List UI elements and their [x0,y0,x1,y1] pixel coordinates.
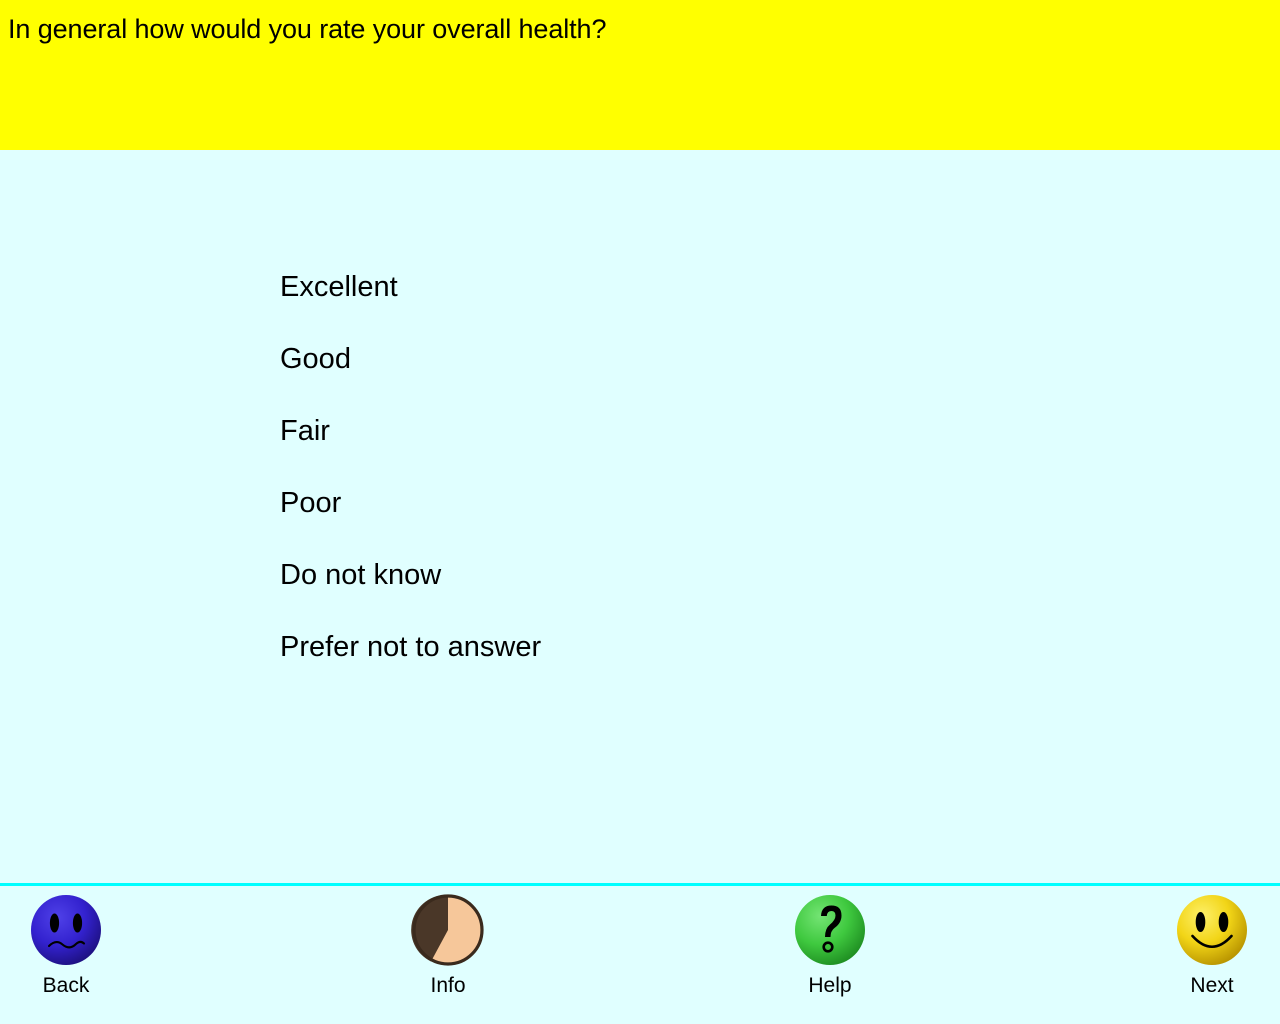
answer-option-poor[interactable]: Poor [280,488,541,560]
answer-options-list: Excellent Good Fair Poor Do not know Pre… [280,272,541,704]
answer-option-excellent[interactable]: Excellent [280,272,541,344]
help-button-label: Help [750,974,910,998]
answer-option-prefer-not-to-answer[interactable]: Prefer not to answer [280,632,541,704]
content-area: Excellent Good Fair Poor Do not know Pre… [0,150,1280,883]
yellow-smiley-face-icon [1174,892,1250,968]
back-button[interactable]: Back [0,892,146,998]
next-button[interactable]: Next [1132,892,1280,998]
question-header: In general how would you rate your overa… [0,0,1280,150]
back-button-label: Back [0,974,146,998]
help-button[interactable]: Help [750,892,910,998]
answer-option-do-not-know[interactable]: Do not know [280,560,541,632]
answer-option-fair[interactable]: Fair [280,416,541,488]
page-title: In general how would you rate your overa… [8,12,606,46]
footer-navigation-bar: Back Info Help [0,886,1280,1024]
green-question-mark-icon [792,892,868,968]
answer-option-good[interactable]: Good [280,344,541,416]
blue-frowning-face-icon [28,892,104,968]
pie-chart-icon [410,892,486,968]
next-button-label: Next [1132,974,1280,998]
info-button[interactable]: Info [368,892,528,998]
info-button-label: Info [368,974,528,998]
